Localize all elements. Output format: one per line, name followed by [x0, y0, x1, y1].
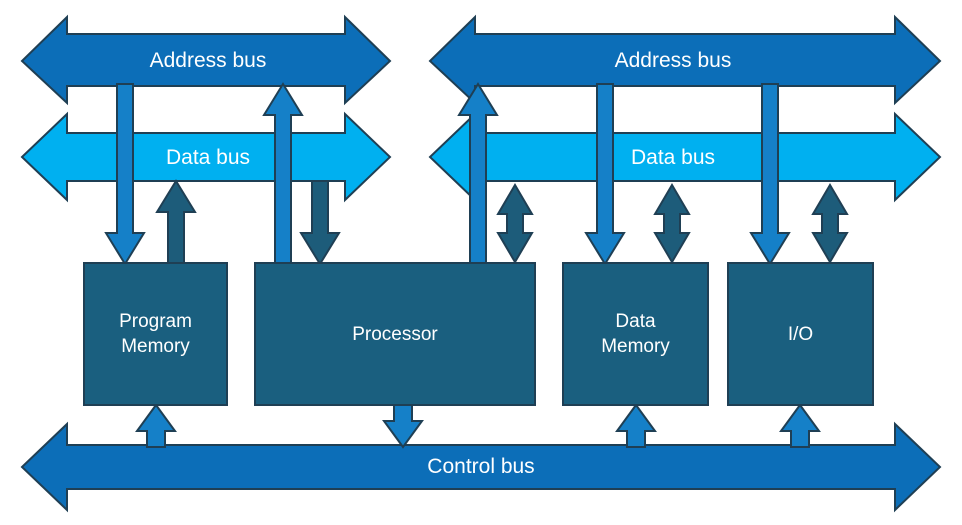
connector-processor-to-control-bus: [384, 405, 422, 447]
connector-io-data-bus: [813, 185, 847, 262]
data-bus-left-arrow: [22, 114, 390, 200]
data-bus-right-arrow: [430, 114, 940, 200]
connector-program-memory-to-data-bus: [157, 181, 195, 263]
connector-data-bus-to-processor-left: [301, 181, 339, 264]
connector-control-to-io: [781, 405, 819, 447]
connector-processor-data-bus-right: [498, 185, 532, 262]
connector-control-to-data-memory: [617, 405, 655, 447]
diagram-canvas: Address bus Address bus Data bus Data bu…: [0, 0, 962, 525]
block-processor[interactable]: [255, 263, 535, 405]
block-program-memory[interactable]: [84, 263, 227, 405]
diagram-svg: [0, 0, 962, 525]
address-bus-left-arrow: [22, 17, 390, 103]
connector-data-memory-data-bus: [655, 185, 689, 262]
address-bus-right-arrow: [430, 17, 940, 103]
block-io[interactable]: [728, 263, 873, 405]
block-data-memory[interactable]: [563, 263, 708, 405]
connector-control-to-program-memory: [137, 405, 175, 447]
